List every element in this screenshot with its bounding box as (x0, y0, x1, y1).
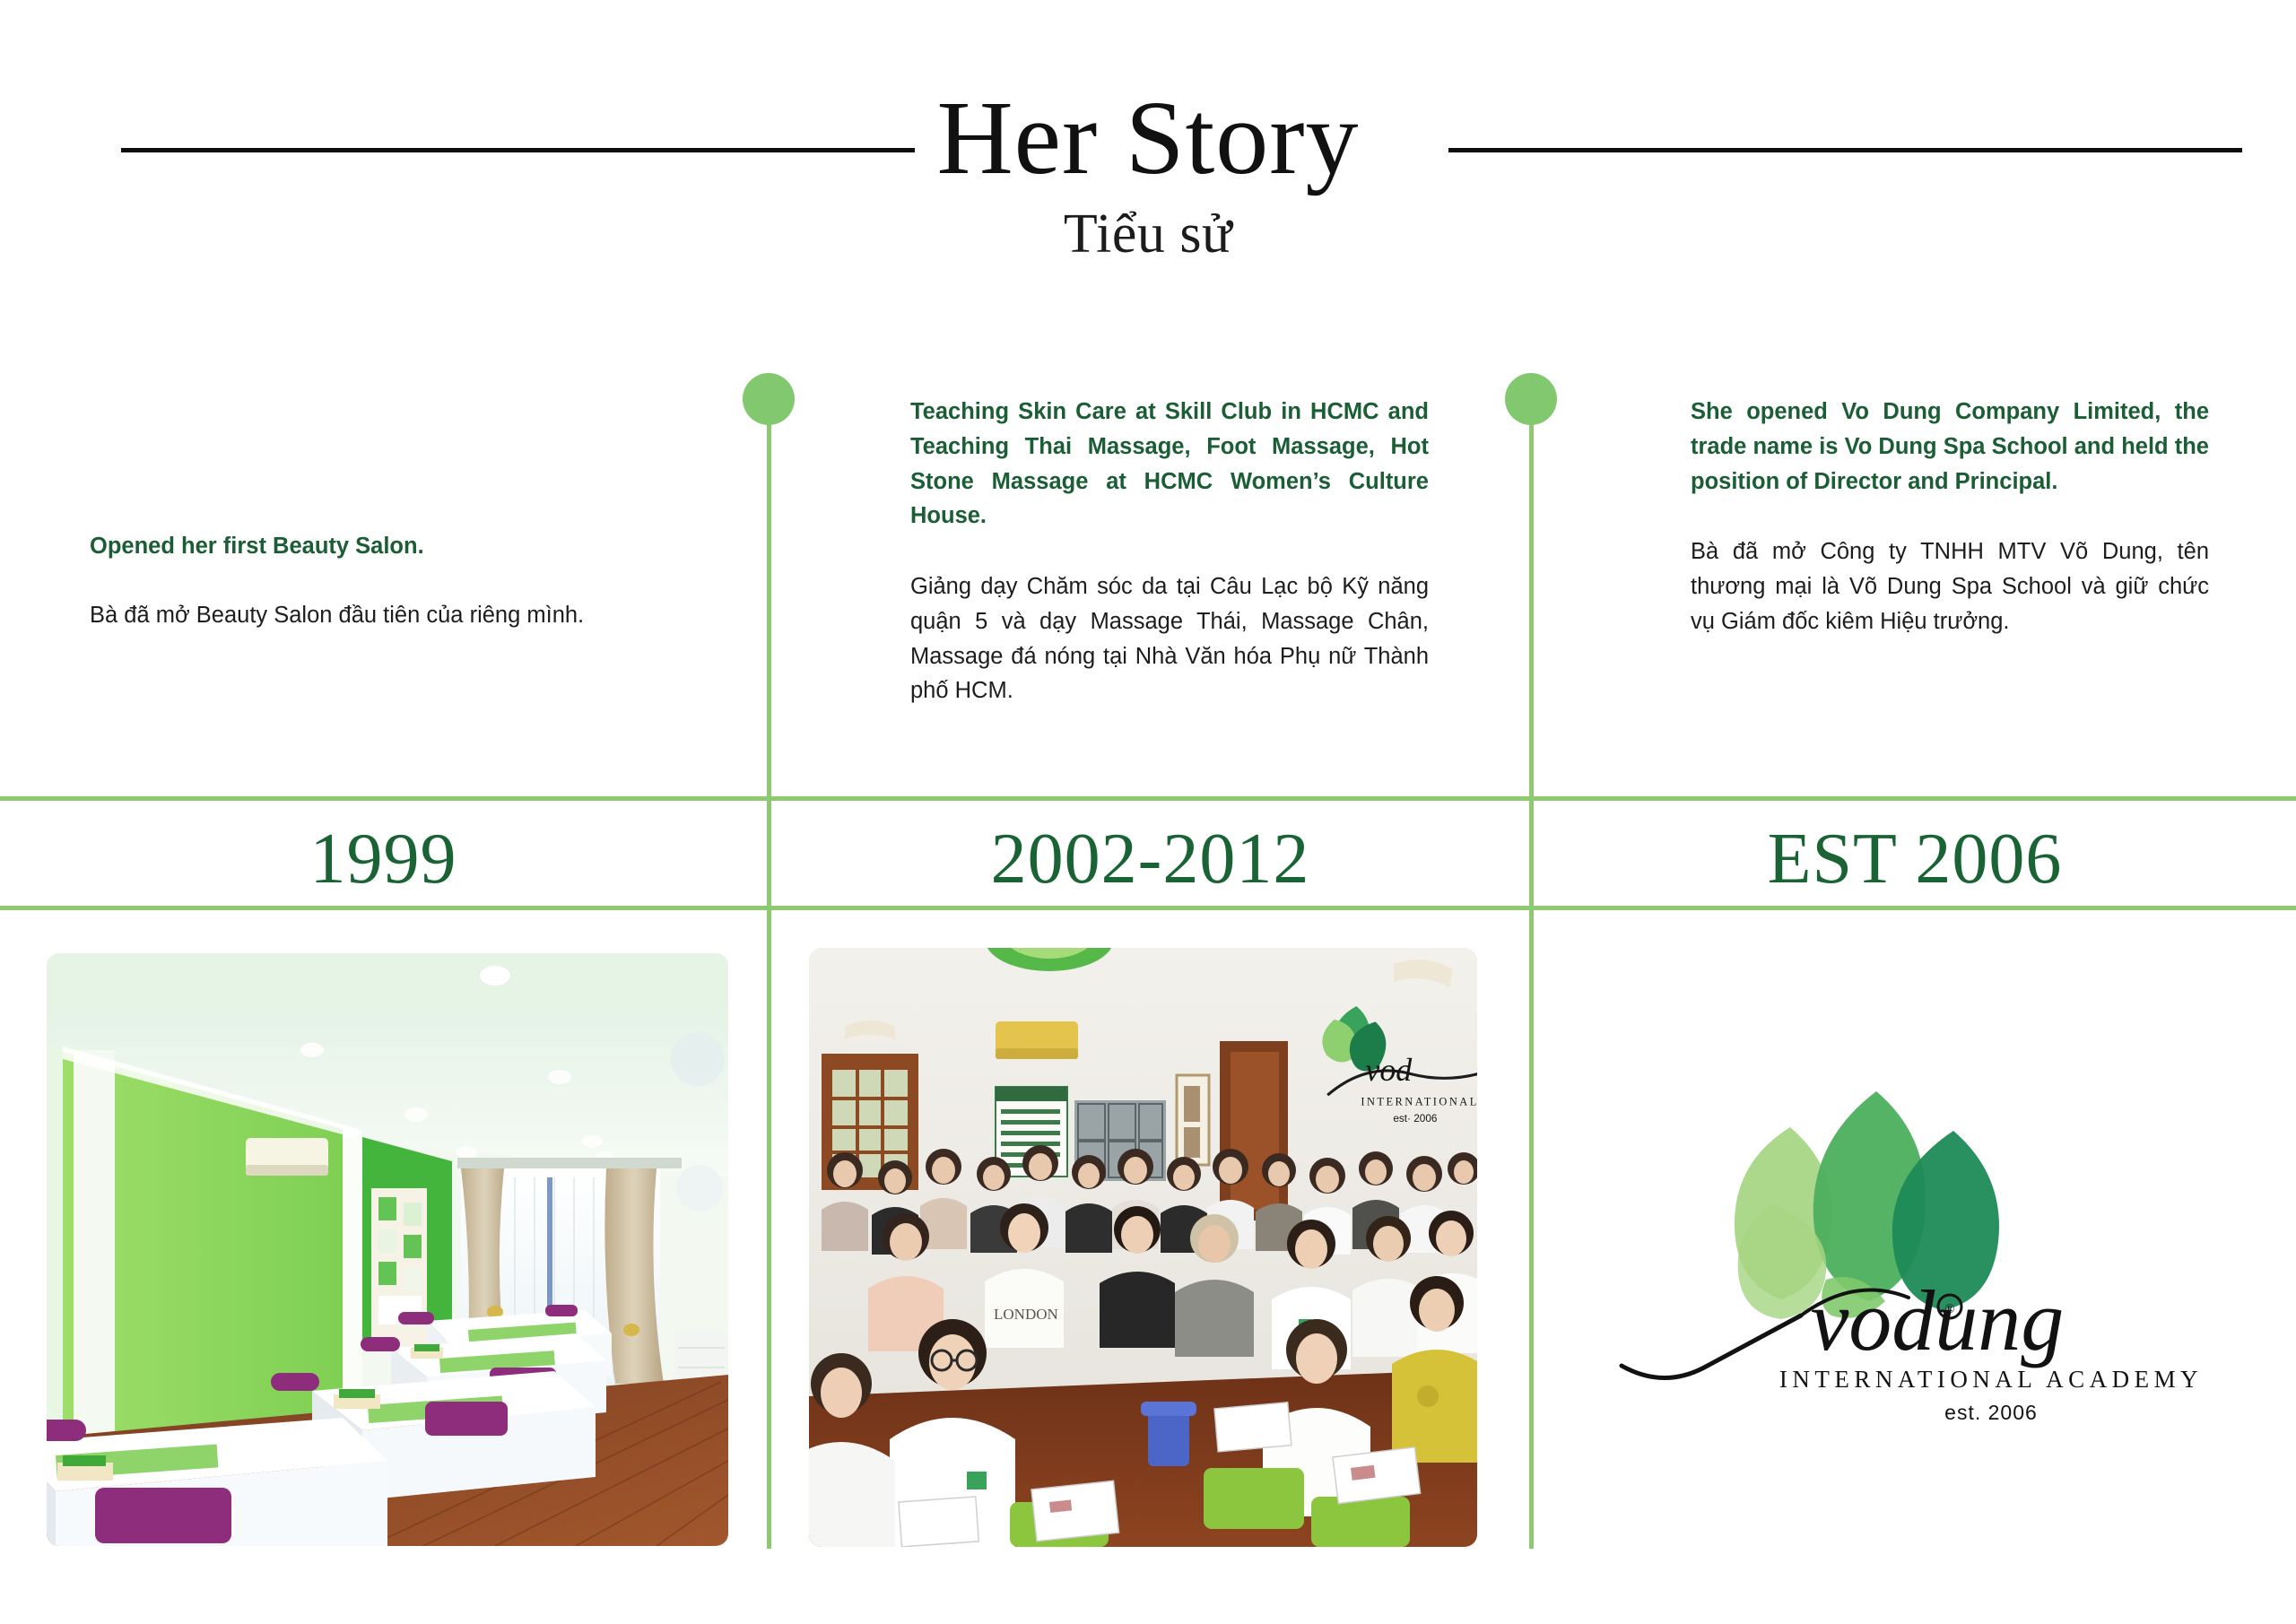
spa-room-illustration (47, 953, 728, 1546)
entry-body-vi: Bà đã mở Công ty TNHH MTV Võ Dung, tên t… (1691, 534, 2209, 638)
logo-established: est. 2006 (1944, 1401, 2038, 1424)
year-label-3: EST 2006 (1534, 812, 2296, 906)
entry-headline-en: Opened her first Beauty Salon. (90, 529, 700, 564)
logo-tagline: INTERNATIONAL ACADEMY (1779, 1366, 2203, 1393)
entry-headline-en: She opened Vo Dung Company Limited, the … (1691, 395, 2209, 499)
year-label-1: 1999 (0, 812, 767, 906)
photo-spa-room (47, 953, 728, 1546)
entry-headline-en: Teaching Skin Care at Skill Club in HCMC… (910, 395, 1429, 534)
logo-swoosh (1622, 1316, 1801, 1378)
year-band-line-top (0, 796, 2296, 801)
svg-text:vod: vod (1365, 1052, 1413, 1088)
photo-classroom: vod INTERNATIONAL est· 2006 (809, 948, 1477, 1547)
entry-body-vi: Giảng dạy Chăm sóc da tại Câu Lạc bộ Kỹ … (910, 569, 1429, 708)
vodung-logo-mark: ® vodung INTERNATIONAL ACADEMY est. 2006 (1614, 1054, 2242, 1430)
title-block: Her Story Tiểu sử (0, 85, 2296, 265)
timeline-dot-1 (743, 373, 795, 425)
her-story-timeline-page: Her Story Tiểu sử Opened her first Beaut… (0, 0, 2296, 1624)
classroom-illustration: vod INTERNATIONAL est· 2006 (809, 948, 1477, 1547)
timeline-entry-2002-2012: Teaching Skin Care at Skill Club in HCMC… (910, 395, 1429, 708)
timeline-dot-2 (1505, 373, 1557, 425)
logo-wordmark: vodung (1811, 1272, 2065, 1368)
timeline-entry-est-2006: She opened Vo Dung Company Limited, the … (1691, 395, 2209, 639)
timeline-entry-1999: Opened her first Beauty Salon. Bà đã mở … (90, 529, 700, 633)
page-title: Her Story (0, 85, 2296, 191)
page-subtitle: Tiểu sử (0, 204, 2296, 265)
page-header: Her Story Tiểu sử (0, 0, 2296, 305)
year-band-line-bottom (0, 906, 2296, 910)
timeline-divider-1 (767, 425, 771, 1549)
svg-text:INTERNATIONAL: INTERNATIONAL (1361, 1095, 1477, 1107)
year-label-2: 2002-2012 (771, 812, 1529, 906)
brand-logo: ® vodung INTERNATIONAL ACADEMY est. 2006 (1614, 1054, 2242, 1430)
svg-text:est· 2006: est· 2006 (1393, 1113, 1438, 1125)
entry-body-vi: Bà đã mở Beauty Salon đầu tiên của riêng… (90, 598, 700, 633)
timeline-divider-2 (1529, 425, 1534, 1549)
svg-text:LONDON: LONDON (994, 1306, 1058, 1323)
